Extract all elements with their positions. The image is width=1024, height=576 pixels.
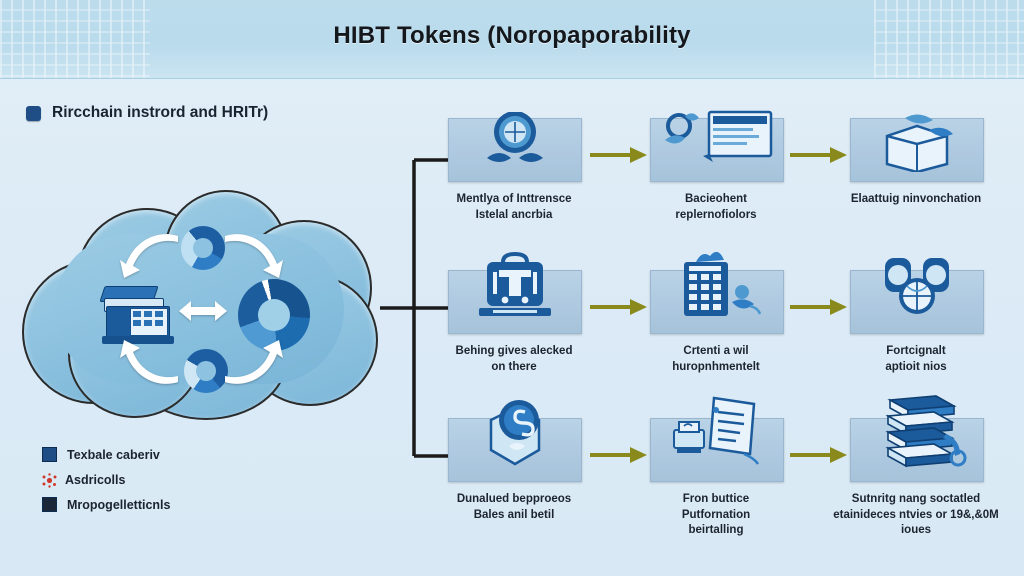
legend: Texbale caberiv Asdricolls Mropogelletti… xyxy=(42,444,302,519)
thumbnail-globe-sphere xyxy=(448,118,582,182)
flow-arrow-2-2 xyxy=(790,296,848,323)
flow-caption: Behing gives aleckedon there xyxy=(441,344,587,375)
book-stack-icon xyxy=(862,394,972,477)
legend-swatch-square-icon xyxy=(42,447,57,462)
flow-cell-3-2[interactable]: Fron butticePutfornationbeirtalling xyxy=(650,418,782,539)
flow-arrow-2-1 xyxy=(590,296,648,323)
cycle-arrow-icon-bottom-left xyxy=(118,336,182,388)
thumbnail-printer-document xyxy=(650,418,784,482)
thumbnail-machine-briefcase xyxy=(448,270,582,334)
flow-arrow-3-1 xyxy=(590,444,648,471)
thumbnail-book-stack xyxy=(850,418,984,482)
cloud-diagram xyxy=(14,186,386,436)
legend-label: Mropogelletticnls xyxy=(67,498,170,512)
flow-cell-3-1[interactable]: Dunalued bepproeosBales anil betil xyxy=(448,418,580,523)
printer-document-icon xyxy=(658,396,776,477)
flow-cell-1-3[interactable]: Elaattuig ninvonchation xyxy=(850,118,982,208)
flow-arrow-1-1 xyxy=(590,144,648,171)
flow-cell-2-3[interactable]: Fortcignaltaptioit nios xyxy=(850,270,982,375)
thumbnail-open-box xyxy=(850,118,984,182)
globes-cluster-icon xyxy=(865,252,969,329)
globe-sphere-icon xyxy=(461,112,569,177)
subtitle-legend: Rircchain instrord and HRITr) xyxy=(26,104,268,122)
legend-item[interactable]: Asdricolls xyxy=(42,469,302,490)
legend-label: Texbale caberiv xyxy=(67,448,160,462)
cloud-contents xyxy=(14,186,386,436)
flow-caption: Mentlya of InttrensceIstelal ancrbia xyxy=(441,192,587,223)
subtitle-swatch xyxy=(26,106,41,121)
thumbnail-building-calculator xyxy=(650,270,784,334)
cycle-arrow-icon-top-right xyxy=(221,230,285,282)
flow-arrow-3-2 xyxy=(790,444,848,471)
flow-grid: Mentlya of InttrensceIstelal ancrbia xyxy=(440,118,1010,566)
flow-caption: Fron butticePutfornationbeirtalling xyxy=(643,492,789,539)
legend-swatch-square-icon xyxy=(42,497,57,512)
flow-row-2: Behing gives aleckedon there xyxy=(440,270,1010,410)
building-calculator-icon xyxy=(662,248,772,329)
legend-label: Asdricolls xyxy=(65,473,125,487)
flow-caption: Bacieohentreplernofiolors xyxy=(643,192,789,223)
subtitle-label: Rircchain instrord and HRITr) xyxy=(52,104,268,122)
bidirectional-arrow-icon xyxy=(177,298,229,324)
flow-row-1: Mentlya of InttrensceIstelal ancrbia xyxy=(440,118,1010,258)
legend-swatch-burst-icon xyxy=(42,473,55,486)
flow-arrow-1-2 xyxy=(790,144,848,171)
machine-briefcase-icon xyxy=(465,250,565,329)
open-box-icon xyxy=(865,114,969,177)
flow-cell-1-2[interactable]: Bacieohentreplernofiolors xyxy=(650,118,782,223)
thumbnail-globes-cluster xyxy=(850,270,984,334)
legend-item[interactable]: Texbale caberiv xyxy=(42,444,302,465)
diagram-canvas: HIBT Tokens (Noropaporability Rircchain … xyxy=(0,0,1024,576)
flow-caption: Dunalued bepproeosBales anil betil xyxy=(441,492,587,523)
header-bar: HIBT Tokens (Noropaporability xyxy=(0,0,1024,79)
flow-caption: Fortcignaltaptioit nios xyxy=(843,344,989,375)
flow-cell-2-1[interactable]: Behing gives aleckedon there xyxy=(448,270,580,375)
browser-window-icon xyxy=(659,110,775,177)
flow-cell-3-3[interactable]: Sutnritg nang soctatledetainideces ntvie… xyxy=(850,418,982,539)
cycle-arrow-icon-bottom-right xyxy=(221,336,285,388)
flow-caption: Elaattuig ninvonchation xyxy=(843,192,989,208)
flow-row-3: Dunalued bepproeosBales anil betil xyxy=(440,418,1010,558)
flow-cell-1-1[interactable]: Mentlya of InttrensceIstelal ancrbia xyxy=(448,118,580,223)
donut-chart-icon-top xyxy=(181,226,225,270)
flow-caption: Crtenti a wilhuropnhmentelt xyxy=(643,344,789,375)
thumbnail-browser-window xyxy=(650,118,784,182)
thumbnail-coin-badge xyxy=(448,418,582,482)
page-title: HIBT Tokens (Noropaporability xyxy=(0,22,1024,50)
cycle-arrow-icon-top-left xyxy=(118,230,182,282)
flow-cell-2-2[interactable]: Crtenti a wilhuropnhmentelt xyxy=(650,270,782,375)
legend-item[interactable]: Mropogelletticnls xyxy=(42,494,302,515)
flow-caption: Sutnritg nang soctatledetainideces ntvie… xyxy=(828,492,1004,539)
coin-badge-icon xyxy=(465,398,565,477)
